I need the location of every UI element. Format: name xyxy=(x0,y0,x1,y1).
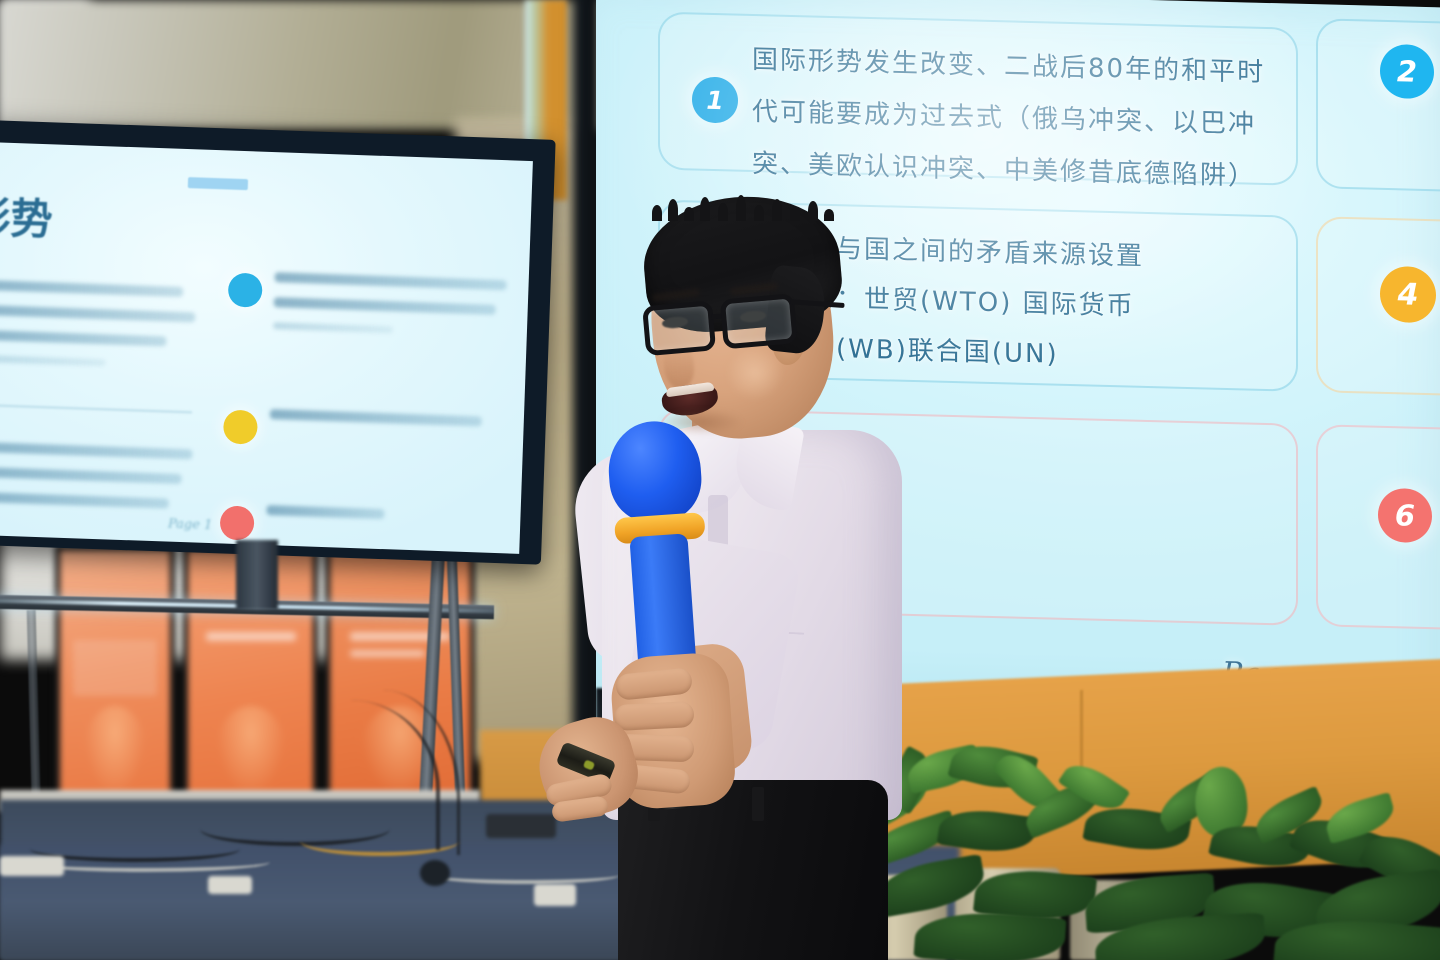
slide-card-badge-2: 2 xyxy=(1380,44,1434,99)
tv-text-line xyxy=(0,329,167,346)
hair-spike xyxy=(736,195,746,221)
slide-card-1: 1 国际形势发生改变、二战后80年的和平时 代可能要成为过去式（俄乌冲突、以巴冲… xyxy=(658,12,1298,186)
tv-bullet-badge-icon xyxy=(220,505,255,540)
presentation-room-photo: 形势 xyxy=(0,0,1440,960)
tv-text-line xyxy=(0,441,193,459)
presenter-hair-spikes xyxy=(648,191,838,221)
tv-text-line xyxy=(270,409,482,426)
hair-spike xyxy=(718,203,728,221)
poster-subheadline xyxy=(350,650,426,657)
tv-screen: 形势 xyxy=(0,142,533,554)
belt-loop xyxy=(752,787,764,821)
tv-text-line xyxy=(0,466,182,484)
tv-bullet-badge-icon xyxy=(228,273,263,308)
hair-spike xyxy=(700,197,710,221)
tv-text-line xyxy=(0,491,169,509)
tv-slide-left-column-2 xyxy=(0,441,203,525)
tv-text-line xyxy=(266,505,384,519)
tv-slide-divider xyxy=(0,403,192,413)
glasses-lens-right xyxy=(720,293,798,349)
tv-text-line xyxy=(0,304,195,322)
slide-card-right-2: 4 国 xyxy=(1316,216,1440,397)
slide-card-badge-4: 4 xyxy=(1380,266,1436,323)
tv-bullet-item xyxy=(206,503,496,523)
hair-spike xyxy=(668,199,678,221)
slide-card-badge-6: 6 xyxy=(1378,488,1432,543)
hair-spike xyxy=(790,207,800,221)
microphone-windscreen xyxy=(605,418,704,524)
tv-bullet-badge-icon xyxy=(223,409,258,444)
hair-spike xyxy=(652,205,662,221)
poster-band xyxy=(73,640,157,696)
power-strip xyxy=(0,856,64,876)
tv-slide-right-column xyxy=(204,270,505,554)
tv-stand-neck xyxy=(236,540,278,610)
hair-spike xyxy=(808,201,818,221)
power-strip xyxy=(208,876,252,894)
tv-text-line xyxy=(0,279,183,297)
poster-headline xyxy=(206,632,296,641)
poster-graphic xyxy=(216,706,286,796)
slide-card-right-1: 2 xyxy=(1316,18,1440,193)
presenter xyxy=(540,195,960,960)
tv-bullet-item xyxy=(210,407,500,427)
slide-card-badge-1: 1 xyxy=(692,76,738,123)
tv-bullet-item xyxy=(213,270,505,337)
tv-page-label: Page 1 xyxy=(168,517,213,534)
wall-tv-monitor: 形势 xyxy=(0,120,556,565)
tv-slide-accent-tab xyxy=(188,177,248,190)
hair-spike xyxy=(754,205,764,221)
tv-slide-title: 形势 xyxy=(0,183,54,247)
slide-card-text-1: 国际形势发生改变、二战后80年的和平时 代可能要成为过去式（俄乌冲突、以巴冲 突… xyxy=(752,34,1312,204)
stand-caster-wheel xyxy=(420,860,450,886)
tv-slide-left-column xyxy=(0,279,208,385)
finger xyxy=(613,701,694,731)
glasses-lens-left xyxy=(642,300,716,356)
tv-text-line xyxy=(274,297,496,315)
tv-text-line xyxy=(273,322,393,333)
tv-text-line xyxy=(0,354,106,366)
poster-graphic xyxy=(84,706,146,796)
hair-spike xyxy=(824,209,834,221)
hair-spike xyxy=(684,207,694,221)
cheek-highlight xyxy=(726,345,784,401)
slide-card-right-3: 6 区域 贸易 xyxy=(1316,424,1440,631)
tv-text-line xyxy=(275,272,507,290)
hair-spike xyxy=(772,199,782,221)
